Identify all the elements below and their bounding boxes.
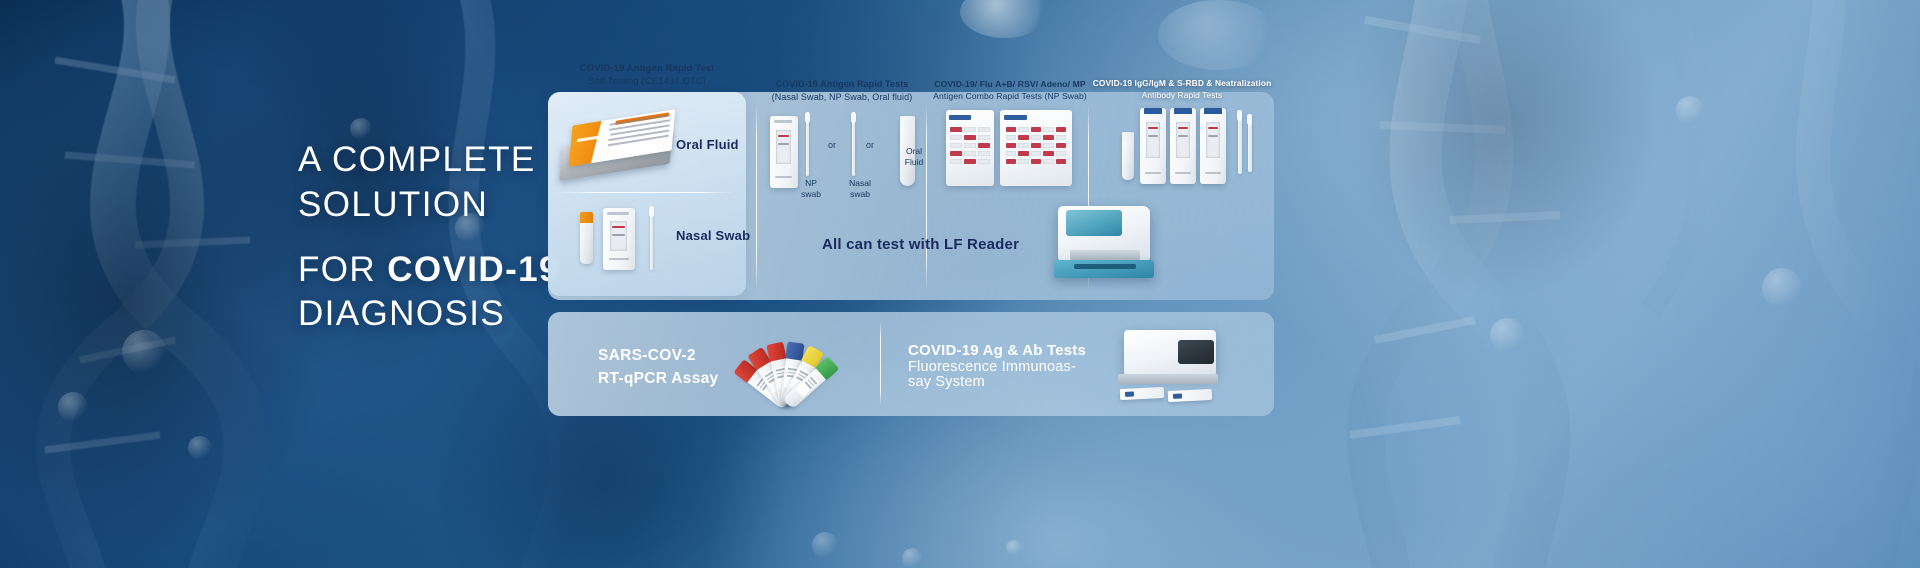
cassette-footer-text: [609, 258, 629, 260]
column-title-line-1: COVID-19 Antigen Rapid Test: [548, 62, 746, 75]
headline-line-3-prefix: FOR: [298, 250, 387, 289]
column-title-line-1: COVID-19 Antigen Rapid Tests: [762, 78, 922, 91]
background-bokeh: [902, 548, 922, 568]
pcr-assay-line-1: SARS-COV-2: [598, 344, 718, 367]
oral-fluid-kit-box-image: [556, 112, 680, 180]
column-title-self-testing: COVID-19 Antigen Rapid Test Self-Testing…: [548, 62, 746, 89]
combo-test-device-image-2: [1000, 110, 1072, 186]
kit-side-text: [577, 134, 611, 142]
tube-cap: [580, 212, 593, 223]
nasal-swab-stick-image: [650, 206, 653, 270]
cassette-test-line: [1148, 127, 1158, 129]
background-bokeh: [350, 118, 372, 140]
bottom-panel-separator: [880, 322, 881, 406]
antibody-cassette-image-3: [1200, 108, 1226, 184]
cassette-test-line: [1178, 127, 1188, 129]
cassette-control-line: [1148, 135, 1158, 137]
background-bokeh: [122, 330, 166, 374]
collector-cap: [900, 116, 915, 127]
device-header-bar: [949, 115, 971, 120]
analyzer-body: [1124, 330, 1216, 376]
reader-tray: [1070, 250, 1140, 260]
cassette-footer-text: [1175, 172, 1191, 174]
connector-or-2: or: [866, 140, 874, 150]
column-separator: [756, 104, 757, 290]
lancet-image: [1238, 110, 1242, 174]
test-strip-1: [1120, 387, 1165, 400]
background-bokeh: [1006, 540, 1022, 556]
swab-tip: [649, 206, 654, 217]
cassette-test-line: [778, 135, 789, 137]
cassette-footer-text: [775, 176, 792, 178]
headline-line-3-emphasis: COVID-19: [387, 250, 560, 289]
column-title-line-2: Antibody Rapid Tests: [1092, 90, 1272, 102]
background-bokeh: [1676, 96, 1704, 124]
column-title-antibody-tests: COVID-19 IgG/IgM & S-RBD & Neatralizatio…: [1092, 78, 1272, 102]
cassette-footer-text: [1205, 172, 1221, 174]
buffer-bottle-image: [1122, 132, 1134, 180]
cassette-control-line: [612, 234, 625, 236]
background-bokeh: [58, 392, 88, 422]
column-title-line-1: COVID-19/ Flu A+B/ RSV/ Adeno/ MP: [930, 78, 1090, 90]
column-title-line-1: COVID-19 IgG/IgM & S-RBD & Neatralizatio…: [1092, 78, 1272, 90]
column-separator: [926, 104, 927, 290]
swab-tip: [851, 112, 856, 123]
background-bokeh: [1490, 318, 1524, 352]
pipette-tip: [1247, 114, 1252, 125]
cassette-top-band: [1204, 108, 1222, 114]
column-title-line-2: (Nasal Swab, NP Swab, Oral fluid): [762, 91, 922, 104]
pcr-reagent-tubes-image: [730, 330, 858, 404]
cassette-top-band: [1144, 108, 1162, 114]
device-well-grid: [950, 127, 990, 179]
cassette-brand-text: [774, 120, 792, 123]
mini-label-np-swab: NP swab: [794, 178, 828, 200]
background-bokeh: [812, 532, 838, 558]
background-glow: [1158, 0, 1278, 70]
reader-base: [1054, 260, 1154, 278]
device-header-bar: [1004, 115, 1027, 120]
test-strip-2: [1168, 389, 1213, 402]
cassette-brand-text: [607, 212, 629, 215]
card-divider: [560, 192, 734, 193]
nasal-swab-stick-image-2: [852, 112, 855, 176]
cassette-control-line: [778, 143, 789, 145]
column-title-antigen-rapid-tests: COVID-19 Antigen Rapid Tests (Nasal Swab…: [762, 78, 922, 104]
mini-label-nasal-swab: Nasal swab: [840, 178, 880, 200]
pipette-image: [1248, 114, 1252, 172]
pcr-assay-label: SARS-COV-2 RT-qPCR Assay: [598, 344, 718, 391]
column-title-line-2: Self-Testing (CE1434 OTC): [548, 75, 746, 88]
cassette-top-band: [1174, 108, 1192, 114]
lf-reader-note: All can test with LF Reader: [822, 236, 1019, 253]
fluorescence-analyzer-image: [1118, 326, 1222, 408]
reader-screen: [1066, 210, 1122, 236]
background-bokeh: [1762, 268, 1802, 308]
cassette-control-line: [1178, 135, 1188, 137]
reader-cartridge-slot: [1074, 264, 1136, 269]
fia-system-subtitle-line-2: say System: [908, 373, 985, 392]
cassette-test-line: [1208, 127, 1218, 129]
extraction-tube-image: [580, 212, 593, 264]
lf-reader-instrument-image: [1058, 198, 1156, 284]
label-nasal-swab: Nasal Swab: [676, 228, 750, 243]
connector-or-1: or: [828, 140, 836, 150]
lancet-tip: [1237, 110, 1242, 121]
cassette-footer-text: [1145, 172, 1161, 174]
antibody-cassette-image-2: [1170, 108, 1196, 184]
antibody-cassette-image-1: [1140, 108, 1166, 184]
swab-tip: [805, 112, 810, 123]
analyzer-display: [1178, 340, 1214, 364]
cassette-control-line: [1208, 135, 1218, 137]
combo-test-device-image-1: [946, 110, 994, 186]
column-title-combo-tests: COVID-19/ Flu A+B/ RSV/ Adeno/ MP Antige…: [930, 78, 1090, 102]
tube-cap-red: [766, 342, 786, 362]
analyzer-base: [1118, 374, 1218, 384]
cassette-test-line: [612, 226, 625, 228]
pcr-assay-line-2: RT-qPCR Assay: [598, 367, 718, 390]
label-oral-fluid: Oral Fluid: [676, 137, 739, 152]
nasal-swab-cassette-image: [603, 208, 635, 270]
device-well-grid: [1006, 127, 1067, 179]
column-title-line-2: Antigen Combo Rapid Tests (NP Swab): [930, 90, 1090, 102]
np-swab-stick-image: [806, 112, 809, 176]
bottle-cap: [1122, 132, 1134, 141]
background-bokeh: [188, 436, 212, 460]
